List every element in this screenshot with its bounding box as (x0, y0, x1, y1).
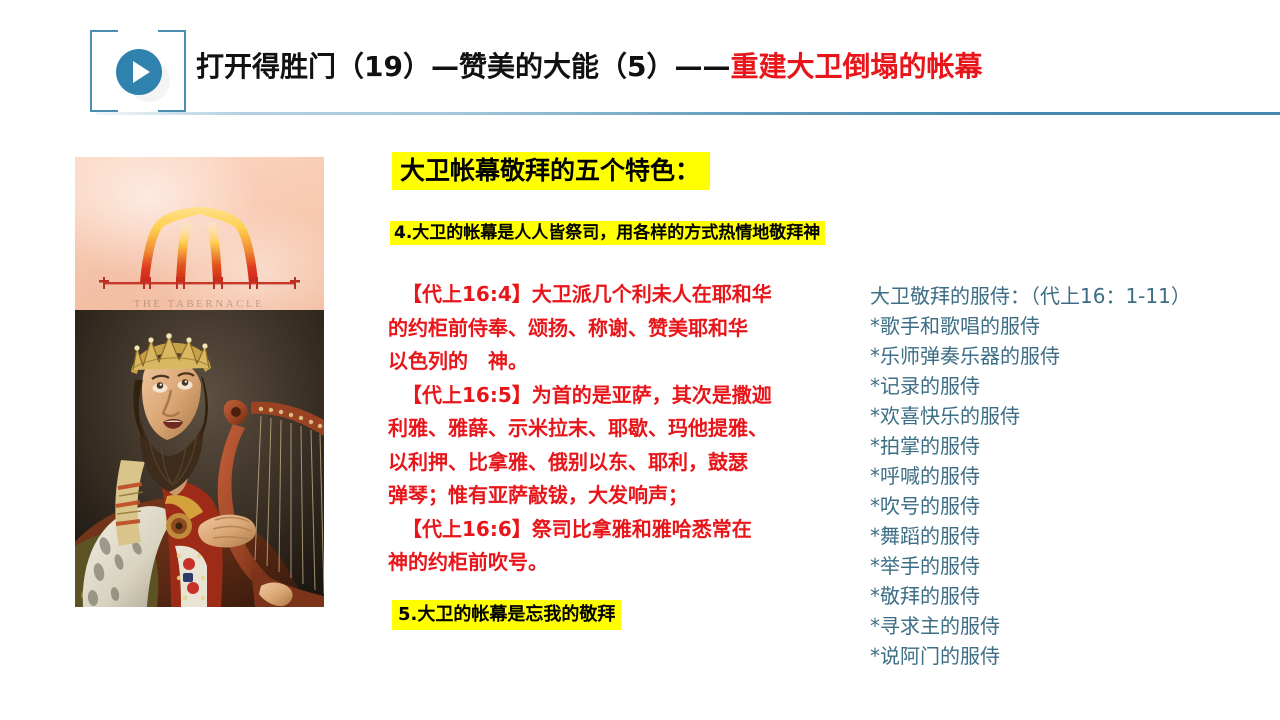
point-5-heading: 5.大卫的帐幕是忘我的敬拜 (392, 600, 621, 630)
scripture-line: 弹琴；惟有亚萨敲钹，大发响声； (388, 479, 840, 513)
page-title-accent: 重建大卫倒塌的帐幕 (730, 50, 982, 83)
svg-text:THE TABERNACLE: THE TABERNACLE (134, 298, 265, 310)
scripture-line: 【代上16:4】大卫派几个利未人在耶和华 (388, 278, 840, 312)
scripture-line: 以色列的 神。 (388, 345, 840, 379)
section-title: 大卫帐幕敬拜的五个特色： (392, 152, 710, 190)
point-4-heading: 4.大卫的帐幕是人人皆祭司，用各样的方式热情地敬拜神 (390, 220, 825, 246)
list-item: *记录的服侍 (870, 371, 1270, 401)
scripture-line: 的约柜前侍奉、颂扬、称谢、赞美耶和华 (388, 312, 840, 346)
list-item: *吹号的服侍 (870, 491, 1270, 521)
frame-corner-top-left (90, 30, 118, 54)
frame-corner-bottom-right (158, 88, 186, 112)
scripture-block: 【代上16:4】大卫派几个利未人在耶和华 的约柜前侍奉、颂扬、称谢、赞美耶和华 … (388, 278, 840, 580)
scripture-line: 【代上16:5】为首的是亚萨，其次是撒迦 (388, 379, 840, 413)
point-4-number: 4. (390, 221, 412, 245)
header-divider (96, 112, 1280, 115)
page-title-main: 打开得胜门（19）—赞美的大能（5）—— (196, 50, 730, 83)
point-4-text: 大卫的帐幕是人人皆祭司，用各样的方式热情地敬拜神 (412, 221, 825, 245)
list-item: *乐师弹奏乐器的服侍 (870, 341, 1270, 371)
scripture-line: 神的约柜前吹号。 (388, 546, 840, 580)
list-item: *敬拜的服侍 (870, 581, 1270, 611)
tabernacle-tent-illustration: THE TABERNACLE (75, 157, 324, 322)
list-item: *举手的服侍 (870, 551, 1270, 581)
scripture-line: 以利押、比拿雅、俄别以东、耶利，鼓瑟 (388, 446, 840, 480)
list-item: *说阿门的服侍 (870, 641, 1270, 671)
bracket-frame-icon (90, 30, 186, 112)
play-circle-icon[interactable] (116, 49, 162, 95)
list-item: *寻求主的服侍 (870, 611, 1270, 641)
scripture-line: 【代上16:6】祭司比拿雅和雅哈悉常在 (388, 513, 840, 547)
slide-header: 打开得胜门（19）—赞美的大能（5）——重建大卫倒塌的帐幕 (0, 0, 1280, 128)
service-list-heading: 大卫敬拜的服侍：（代上16：1-11） (870, 281, 1270, 311)
frame-corner-bottom-left (90, 88, 118, 112)
king-david-harp-painting (75, 310, 324, 607)
list-item: *舞蹈的服侍 (870, 521, 1270, 551)
page-title: 打开得胜门（19）—赞美的大能（5）——重建大卫倒塌的帐幕 (196, 45, 982, 85)
frame-edge-left (90, 30, 92, 112)
scripture-line: 利雅、雅薛、示米拉末、耶歇、玛他提雅、 (388, 412, 840, 446)
frame-edge-right (184, 30, 186, 112)
service-list: 大卫敬拜的服侍：（代上16：1-11） *歌手和歌唱的服侍 *乐师弹奏乐器的服侍… (870, 281, 1270, 671)
frame-corner-top-right (158, 30, 186, 54)
list-item: *拍掌的服侍 (870, 431, 1270, 461)
list-item: *呼喊的服侍 (870, 461, 1270, 491)
play-triangle-icon (133, 61, 150, 83)
list-item: *歌手和歌唱的服侍 (870, 311, 1270, 341)
list-item: *欢喜快乐的服侍 (870, 401, 1270, 431)
